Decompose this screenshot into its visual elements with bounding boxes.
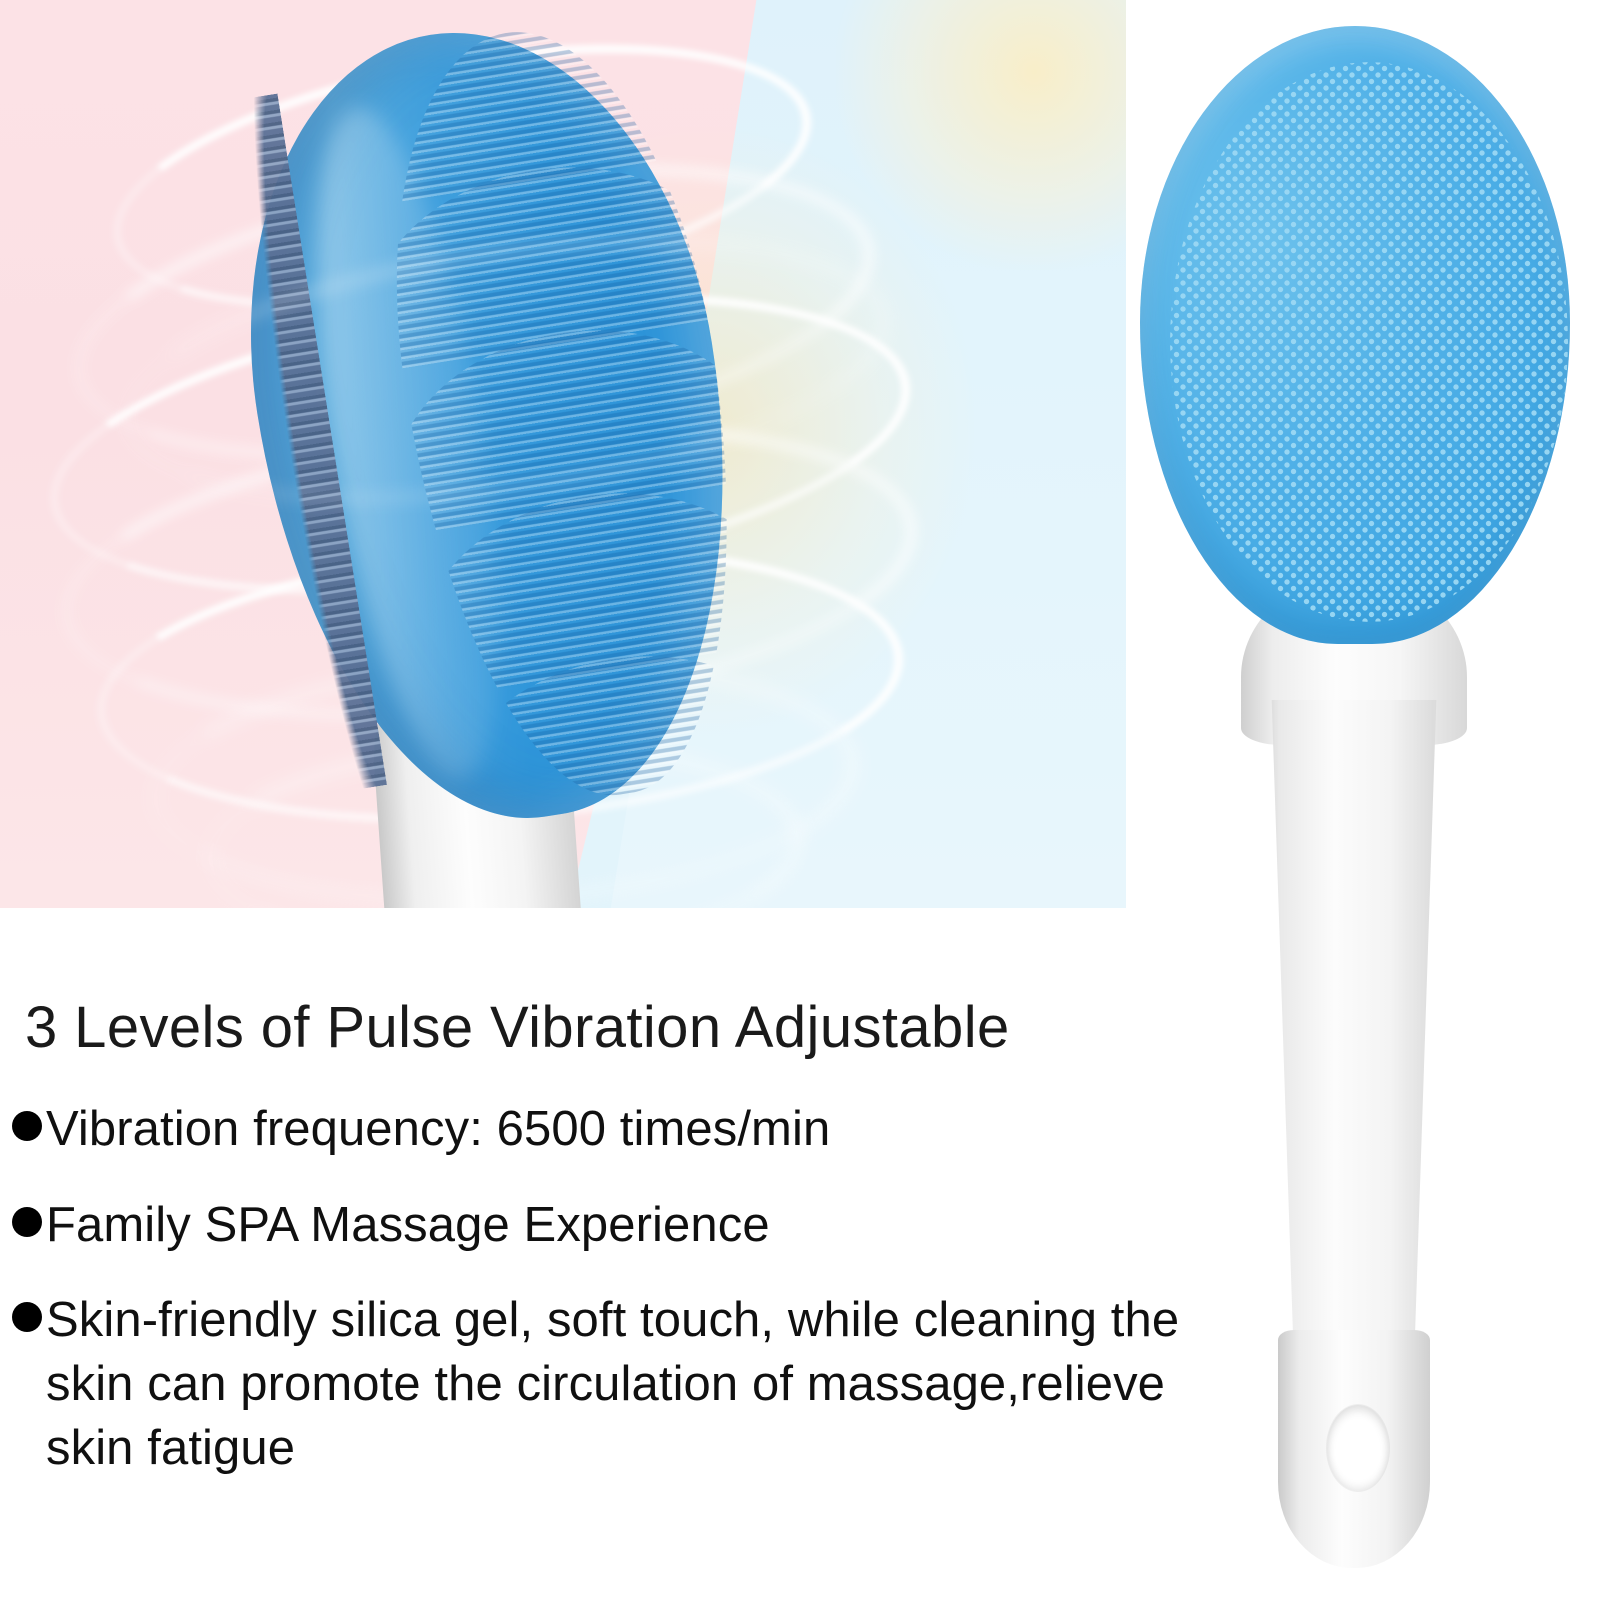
bullet-circle-icon xyxy=(12,1207,42,1237)
bullet-text: Vibration frequency: 6500 times/min xyxy=(46,1098,830,1162)
product-handle-shaft xyxy=(1256,700,1452,1400)
feature-bullet-list: Vibration frequency: 6500 times/min Fami… xyxy=(12,1098,1187,1512)
product-bristle-dots xyxy=(1170,62,1568,622)
list-item: Skin-friendly silica gel, soft touch, wh… xyxy=(12,1289,1187,1480)
list-item: Vibration frequency: 6500 times/min xyxy=(12,1098,1187,1162)
bullet-circle-icon xyxy=(12,1111,42,1141)
list-item: Family SPA Massage Experience xyxy=(12,1194,1187,1258)
product-feature-image: 3 Levels of Pulse Vibration Adjustable V… xyxy=(0,0,1601,1601)
bullet-text: Family SPA Massage Experience xyxy=(46,1194,770,1258)
headline: 3 Levels of Pulse Vibration Adjustable xyxy=(25,994,1010,1061)
hero-lifestyle-panel xyxy=(0,0,1126,908)
bullet-circle-icon xyxy=(12,1302,42,1332)
product-hanging-hole xyxy=(1327,1405,1389,1491)
bullet-text: Skin-friendly silica gel, soft touch, wh… xyxy=(46,1289,1187,1480)
product-brush-head xyxy=(1140,26,1570,644)
product-photo xyxy=(1126,0,1601,1601)
